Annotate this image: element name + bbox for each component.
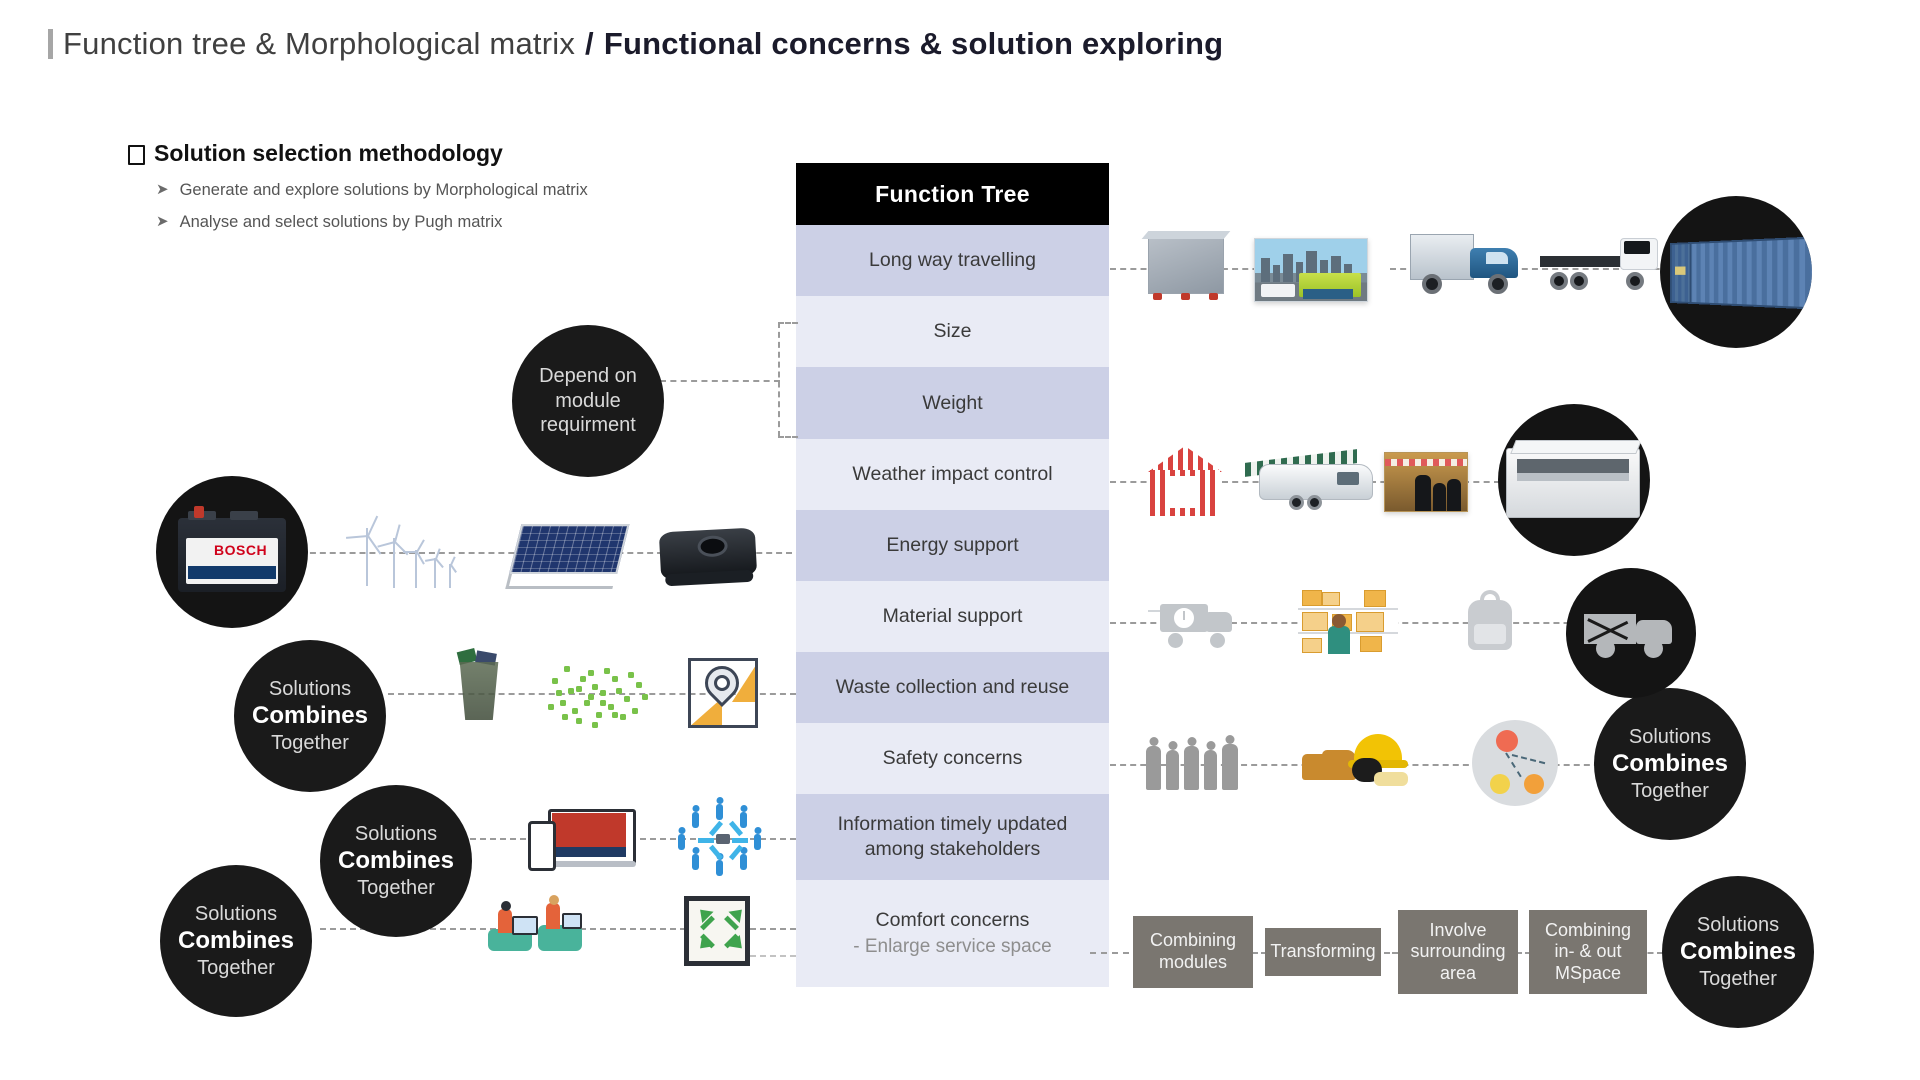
comfort-box-combining-modules[interactable]: Combining modules bbox=[1133, 916, 1253, 988]
wind-turbine-farm-image bbox=[352, 500, 462, 588]
slide-header: Function tree & Morphological matrix / F… bbox=[48, 26, 1223, 62]
comfort-box-transforming[interactable]: Transforming bbox=[1265, 928, 1381, 976]
box-truck-image bbox=[1410, 232, 1530, 294]
row-label: Size bbox=[934, 319, 972, 344]
connector-line bbox=[660, 380, 780, 382]
callout-line-1: Solutions bbox=[1697, 913, 1779, 937]
function-tree-row-long-way-travelling[interactable]: Long way travelling bbox=[796, 225, 1109, 296]
header-accent-bar bbox=[48, 29, 53, 59]
timed-delivery-truck-icon bbox=[1148, 596, 1240, 648]
list-item: ➤ Analyse and select solutions by Pugh m… bbox=[156, 213, 588, 232]
information-sharing-icon bbox=[672, 800, 768, 874]
callout-depend-on-module[interactable]: Depend on module requirment bbox=[512, 325, 664, 477]
box-label: Combining modules bbox=[1141, 930, 1245, 973]
row-label: Weather impact control bbox=[852, 462, 1052, 487]
callout-line-1: Solutions bbox=[269, 677, 351, 701]
function-tree-row-material-support[interactable]: Material support bbox=[796, 581, 1109, 652]
header-separator: / bbox=[585, 26, 594, 62]
callout-line-2: Combines bbox=[338, 846, 454, 875]
callout-line-3: Together bbox=[357, 876, 435, 900]
row-label: Weight bbox=[922, 391, 982, 416]
row-label: Energy support bbox=[886, 533, 1018, 558]
bosch-car-battery-image: BOSCH bbox=[156, 476, 308, 628]
callout-line-2: Combines bbox=[252, 701, 368, 730]
callout-solutions-combines-4[interactable]: Solutions Combines Together bbox=[1594, 688, 1746, 840]
map-pin-design-icon bbox=[688, 658, 758, 728]
row-label: Comfort concerns bbox=[876, 908, 1030, 933]
callout-line-2: Combines bbox=[1680, 937, 1796, 966]
methodology-block: Solution selection methodology ➤ Generat… bbox=[128, 140, 588, 245]
row-label: Material support bbox=[883, 604, 1023, 629]
callout-solutions-combines-1[interactable]: Solutions Combines Together bbox=[234, 640, 386, 792]
people-meeting-illustration bbox=[488, 895, 584, 951]
slide-canvas: Function tree & Morphological matrix / F… bbox=[0, 0, 1920, 1080]
function-tree-row-weather-impact-control[interactable]: Weather impact control bbox=[796, 439, 1109, 510]
function-tree-row-information-timely-updated[interactable]: Information timely updated among stakeho… bbox=[796, 794, 1109, 880]
arrow-bullet-icon: ➤ bbox=[156, 181, 169, 200]
row-label: Information timely updated among stakeho… bbox=[810, 812, 1095, 862]
methodology-bullet-list: ➤ Generate and explore solutions by Morp… bbox=[156, 181, 588, 232]
expand-arrows-icon bbox=[684, 896, 750, 966]
box-label: Transforming bbox=[1270, 941, 1375, 963]
metal-crate-image bbox=[1148, 236, 1224, 294]
breadcrumb: Function tree & Morphological matrix bbox=[63, 26, 575, 62]
people-silhouettes-image bbox=[1146, 728, 1244, 790]
striped-market-tent-image bbox=[1148, 446, 1222, 518]
callout-line-2: Combines bbox=[1612, 749, 1728, 778]
box-label: Involve surrounding area bbox=[1406, 920, 1510, 985]
responsive-devices-image bbox=[528, 805, 634, 871]
methodology-heading: Solution selection methodology bbox=[128, 140, 588, 167]
arrow-bullet-icon: ➤ bbox=[156, 213, 169, 232]
indoor-market-photo bbox=[1384, 452, 1468, 512]
list-item: ➤ Generate and explore solutions by Morp… bbox=[156, 181, 588, 200]
row-label: Long way travelling bbox=[869, 248, 1036, 273]
callout-line-1: Solutions bbox=[1629, 725, 1711, 749]
flatbed-truck-image bbox=[1540, 236, 1660, 294]
callout-line-3: Together bbox=[271, 731, 349, 755]
function-tree-row-waste-collection-and-reuse[interactable]: Waste collection and reuse bbox=[796, 652, 1109, 723]
row-sublabel: - Enlarge service space bbox=[853, 935, 1052, 959]
connector-line bbox=[778, 322, 798, 324]
network-flow-icon bbox=[1472, 720, 1558, 806]
recycled-plastic-pellets-image bbox=[542, 656, 662, 728]
callout-line-3: Together bbox=[197, 956, 275, 980]
callout-solutions-combines-5[interactable]: Solutions Combines Together bbox=[1662, 876, 1814, 1028]
shipping-container-image bbox=[1660, 196, 1812, 348]
comfort-box-involve-surrounding-area[interactable]: Involve surrounding area bbox=[1398, 910, 1518, 994]
callout-solutions-combines-2[interactable]: Solutions Combines Together bbox=[320, 785, 472, 937]
box-label: Combining in- & out MSpace bbox=[1537, 920, 1639, 985]
portable-generator-image bbox=[660, 530, 756, 578]
solar-panel-image bbox=[514, 524, 618, 584]
e-waste-bin-image bbox=[452, 650, 506, 720]
callout-solutions-combines-3[interactable]: Solutions Combines Together bbox=[160, 865, 312, 1017]
backpack-icon bbox=[1464, 590, 1516, 652]
callout-line-3: Together bbox=[1699, 967, 1777, 991]
callout-line-2: Combines bbox=[178, 926, 294, 955]
mail-delivery-truck-icon bbox=[1566, 568, 1696, 698]
checkbox-square-icon bbox=[128, 145, 145, 165]
food-service-trailer-image bbox=[1498, 404, 1650, 556]
comfort-box-combining-in-out-mspace[interactable]: Combining in- & out MSpace bbox=[1529, 910, 1647, 994]
row-label: Waste collection and reuse bbox=[836, 675, 1069, 700]
callout-text: Depend on module requirment bbox=[528, 364, 648, 437]
function-tree-header: Function Tree bbox=[796, 163, 1109, 225]
connector-line bbox=[778, 436, 798, 438]
function-tree-row-energy-support[interactable]: Energy support bbox=[796, 510, 1109, 581]
function-tree-table: Function Tree Long way travelling Size W… bbox=[796, 163, 1109, 987]
methodology-bullet-text: Generate and explore solutions by Morpho… bbox=[180, 181, 588, 200]
callout-line-1: Solutions bbox=[355, 822, 437, 846]
function-tree-row-comfort-concerns[interactable]: Comfort concerns - Enlarge service space bbox=[796, 880, 1109, 987]
function-tree-row-weight[interactable]: Weight bbox=[796, 367, 1109, 439]
function-tree-row-safety-concerns[interactable]: Safety concerns bbox=[796, 723, 1109, 794]
warehouse-inventory-icon bbox=[1298, 586, 1398, 654]
page-title: Functional concerns & solution exploring bbox=[604, 26, 1223, 62]
methodology-heading-text: Solution selection methodology bbox=[154, 140, 503, 167]
methodology-bullet-text: Analyse and select solutions by Pugh mat… bbox=[180, 213, 503, 232]
callout-line-1: Solutions bbox=[195, 902, 277, 926]
connector-line-vertical bbox=[778, 322, 780, 437]
function-tree-row-size[interactable]: Size bbox=[796, 296, 1109, 367]
callout-line-3: Together bbox=[1631, 779, 1709, 803]
awning-caravan-image bbox=[1245, 452, 1377, 512]
row-label: Safety concerns bbox=[883, 746, 1023, 771]
safety-boots-helmet-image bbox=[1300, 730, 1408, 786]
city-service-vehicle-photo bbox=[1254, 238, 1368, 302]
